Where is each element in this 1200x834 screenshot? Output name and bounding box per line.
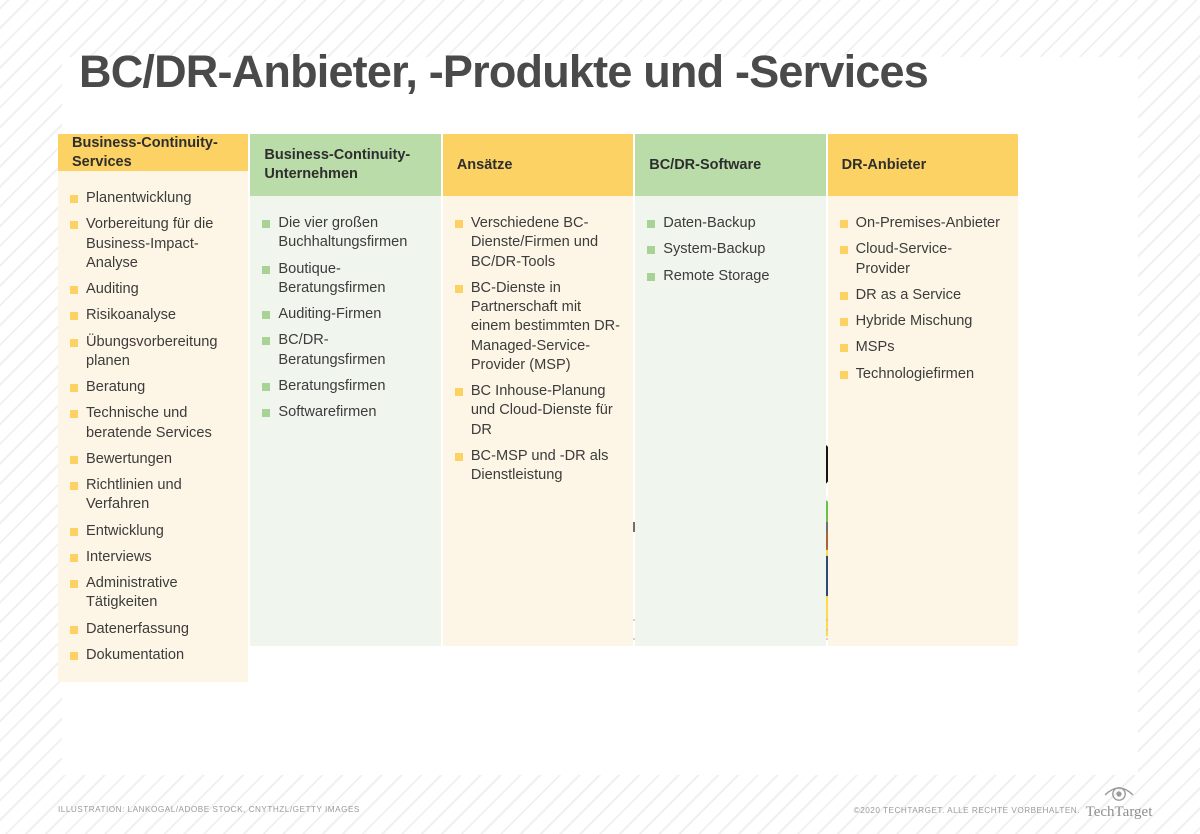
list-item-label: Entwicklung	[86, 523, 164, 539]
bullet-icon	[70, 482, 78, 490]
bullet-icon	[455, 220, 463, 228]
list-item-label: Planentwicklung	[86, 190, 191, 206]
list-item-label: Die vier großen Buchhaltungsfirmen	[278, 215, 407, 250]
list-item-label: Interviews	[86, 549, 152, 565]
list-item: Hybride Mischung	[840, 312, 1006, 331]
item-list: On-Premises-Anbieter Cloud-Service-Provi…	[840, 214, 1006, 384]
columns-table: Business-Continuity-Services Planentwick…	[58, 134, 1018, 646]
list-item: Technologiefirmen	[840, 365, 1006, 384]
list-item-label: Beratung	[86, 379, 145, 395]
bullet-icon	[262, 311, 270, 319]
list-item: Technische und beratende Services	[70, 404, 236, 443]
bullet-icon	[70, 652, 78, 660]
list-item: BC/DR-Beratungsfirmen	[262, 331, 428, 370]
list-item-label: Richtlinien und Verfahren	[86, 477, 182, 512]
list-item: MSPs	[840, 338, 1006, 357]
list-item: DR as a Service	[840, 286, 1006, 305]
list-item-label: Hybride Mischung	[856, 313, 973, 329]
bullet-icon	[647, 220, 655, 228]
column-header: Ansätze	[443, 134, 633, 196]
list-item-label: MSPs	[856, 339, 895, 355]
list-item: Bewertungen	[70, 450, 236, 469]
bullet-icon	[840, 292, 848, 300]
list-item-label: Bewertungen	[86, 451, 172, 467]
bullet-icon	[70, 384, 78, 392]
list-item-label: DR as a Service	[856, 287, 961, 303]
list-item-label: Vorbereitung für die Business-Impact-Ana…	[86, 216, 213, 271]
column-header: BC/DR-Software	[635, 134, 825, 196]
bullet-icon	[70, 554, 78, 562]
list-item-label: Daten-Backup	[663, 215, 755, 231]
list-item-label: BC-Dienste in Partnerschaft mit einem be…	[471, 280, 620, 373]
list-item-label: Boutique-Beratungsfirmen	[278, 261, 385, 296]
list-item: Vorbereitung für die Business-Impact-Ana…	[70, 215, 236, 273]
list-item: Boutique-Beratungsfirmen	[262, 260, 428, 299]
list-item: Dokumentation	[70, 646, 236, 665]
bullet-icon	[262, 383, 270, 391]
column-body: Daten-Backup System-Backup Remote Storag…	[635, 196, 825, 646]
column-business-continuity-services: Business-Continuity-Services Planentwick…	[58, 134, 248, 646]
list-item-label: System-Backup	[663, 241, 765, 257]
list-item-label: BC/DR-Beratungsfirmen	[278, 332, 385, 367]
list-item: BC-MSP und -DR als Dienstleistung	[455, 447, 621, 486]
bullet-icon	[455, 285, 463, 293]
list-item: Cloud-Service-Provider	[840, 240, 1006, 279]
list-item: Übungsvorbereitung planen	[70, 333, 236, 372]
bullet-icon	[647, 246, 655, 254]
bullet-icon	[70, 339, 78, 347]
page-title: BC/DR-Anbieter, -Produkte und -Services	[79, 46, 1039, 98]
bullet-icon	[840, 344, 848, 352]
column-dr-anbieter: DR-Anbieter On-Premises-Anbieter Cloud-S…	[828, 134, 1018, 646]
techtarget-logo: TechTarget	[1080, 783, 1158, 823]
bullet-icon	[455, 453, 463, 461]
list-item-label: Risikoanalyse	[86, 307, 176, 323]
column-bc-dr-software: BC/DR-Software Daten-Backup System-Backu…	[635, 134, 825, 646]
list-item-label: Datenerfassung	[86, 621, 189, 637]
bullet-icon	[647, 273, 655, 281]
bullet-icon	[70, 528, 78, 536]
column-business-continuity-unternehmen: Business-Continuity-Unternehmen Die vier…	[250, 134, 440, 646]
eye-icon	[1103, 783, 1135, 803]
list-item: Planentwicklung	[70, 189, 236, 208]
bullet-icon	[70, 456, 78, 464]
list-item: Entwicklung	[70, 522, 236, 541]
bullet-icon	[70, 286, 78, 294]
bullet-icon	[262, 266, 270, 274]
item-list: Verschiedene BC-Dienste/Firmen und BC/DR…	[455, 214, 621, 485]
list-item: BC-Dienste in Partnerschaft mit einem be…	[455, 279, 621, 375]
list-item-label: Softwarefirmen	[278, 404, 376, 420]
column-header: DR-Anbieter	[828, 134, 1018, 196]
list-item: System-Backup	[647, 240, 813, 259]
list-item: Risikoanalyse	[70, 306, 236, 325]
bullet-icon	[840, 220, 848, 228]
bullet-icon	[455, 388, 463, 396]
list-item: Beratung	[70, 378, 236, 397]
column-body: On-Premises-Anbieter Cloud-Service-Provi…	[828, 196, 1018, 646]
list-item: Auditing	[70, 280, 236, 299]
list-item-label: BC-MSP und -DR als Dienstleistung	[471, 448, 609, 483]
list-item: Die vier großen Buchhaltungsfirmen	[262, 214, 428, 253]
bullet-icon	[262, 409, 270, 417]
list-item: Softwarefirmen	[262, 403, 428, 422]
techtarget-wordmark: TechTarget	[1080, 804, 1158, 821]
list-item: BC Inhouse-Planung und Cloud-Dienste für…	[455, 382, 621, 440]
list-item-label: Auditing	[86, 281, 139, 297]
list-item: Remote Storage	[647, 267, 813, 286]
list-item-label: On-Premises-Anbieter	[856, 215, 1000, 231]
item-list: Daten-Backup System-Backup Remote Storag…	[647, 214, 813, 286]
list-item: On-Premises-Anbieter	[840, 214, 1006, 233]
list-item-label: Beratungsfirmen	[278, 378, 385, 394]
list-item: Richtlinien und Verfahren	[70, 476, 236, 515]
bullet-icon	[840, 246, 848, 254]
bullet-icon	[840, 371, 848, 379]
illustration-credit: ILLUSTRATION: LANKOGAL/ADOBE STOCK, CNYT…	[58, 805, 360, 814]
column-header: Business-Continuity-Unternehmen	[250, 134, 440, 196]
bullet-icon	[262, 220, 270, 228]
bullet-icon	[70, 195, 78, 203]
list-item-label: Cloud-Service-Provider	[856, 241, 953, 276]
list-item: Datenerfassung	[70, 620, 236, 639]
list-item-label: Auditing-Firmen	[278, 306, 381, 322]
list-item-label: Administrative Tätigkeiten	[86, 575, 178, 610]
list-item: Daten-Backup	[647, 214, 813, 233]
bullet-icon	[70, 312, 78, 320]
infographic-canvas: BC/DR-Anbieter, -Produkte und -Services	[0, 0, 1200, 834]
list-item-label: Dokumentation	[86, 647, 184, 663]
bullet-icon	[70, 410, 78, 418]
column-ansaetze: Ansätze Verschiedene BC-Dienste/Firmen u…	[443, 134, 633, 646]
list-item-label: Technische und beratende Services	[86, 405, 212, 440]
bullet-icon	[70, 626, 78, 634]
list-item: Beratungsfirmen	[262, 377, 428, 396]
column-body: Die vier großen Buchhaltungsfirmen Bouti…	[250, 196, 440, 646]
list-item-label: Remote Storage	[663, 268, 769, 284]
list-item-label: Übungsvorbereitung planen	[86, 334, 217, 369]
bullet-icon	[262, 337, 270, 345]
item-list: Planentwicklung Vorbereitung für die Bus…	[70, 189, 236, 665]
list-item: Verschiedene BC-Dienste/Firmen und BC/DR…	[455, 214, 621, 272]
column-body: Verschiedene BC-Dienste/Firmen und BC/DR…	[443, 196, 633, 646]
column-header: Business-Continuity-Services	[58, 134, 248, 171]
copyright-notice: ©2020 TECHTARGET. ALLE RECHTE VORBEHALTE…	[854, 806, 1080, 815]
bullet-icon	[70, 221, 78, 229]
list-item-label: Technologiefirmen	[856, 366, 974, 382]
list-item: Administrative Tätigkeiten	[70, 574, 236, 613]
list-item-label: BC Inhouse-Planung und Cloud-Dienste für…	[471, 383, 613, 438]
bullet-icon	[70, 580, 78, 588]
list-item: Auditing-Firmen	[262, 305, 428, 324]
list-item: Interviews	[70, 548, 236, 567]
item-list: Die vier großen Buchhaltungsfirmen Bouti…	[262, 214, 428, 422]
list-item-label: Verschiedene BC-Dienste/Firmen und BC/DR…	[471, 215, 598, 270]
column-body: Planentwicklung Vorbereitung für die Bus…	[58, 171, 248, 682]
bullet-icon	[840, 318, 848, 326]
